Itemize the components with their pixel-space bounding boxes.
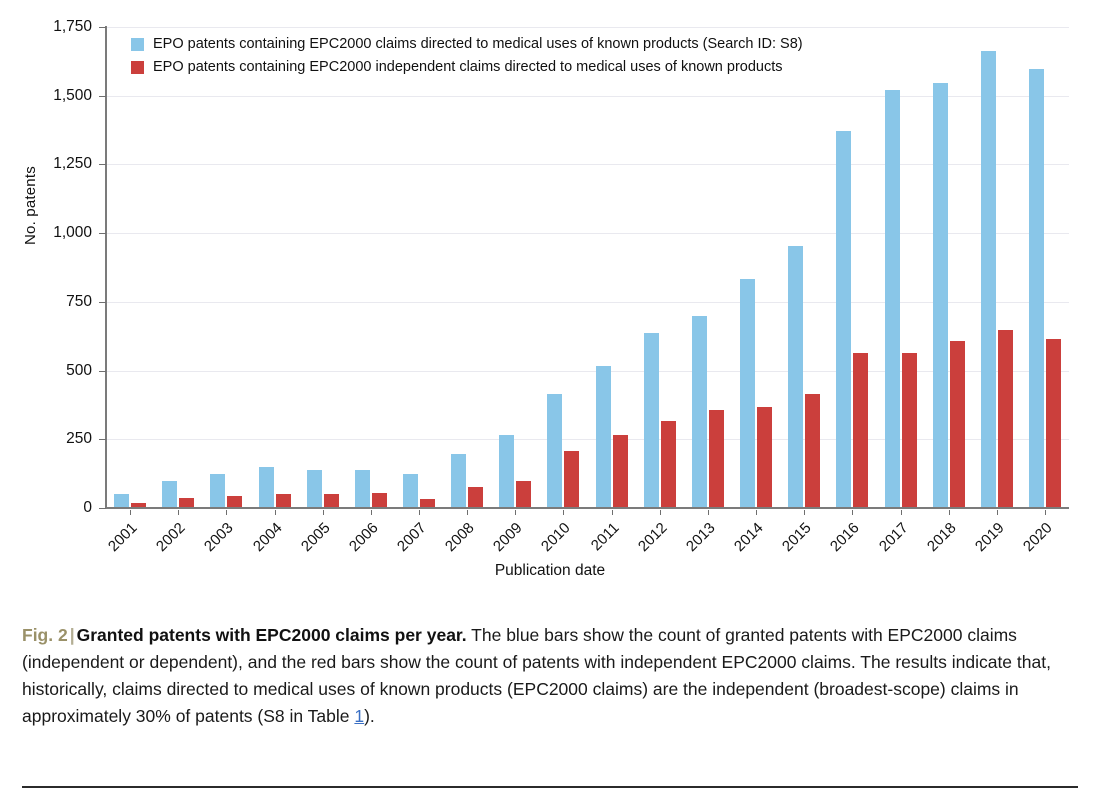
bar-blue-2006 [355, 470, 370, 508]
bar-group [347, 27, 395, 508]
figure-caption: Fig. 2|Granted patents with EPC2000 clai… [22, 622, 1062, 731]
x-tick-mark [226, 510, 227, 515]
y-tick-mark [99, 508, 106, 509]
bar-red-2019 [998, 330, 1013, 508]
bar-red-2004 [276, 494, 291, 508]
bar-blue-2009 [499, 435, 514, 508]
bar-red-2013 [709, 410, 724, 508]
x-tick-label: 2011 [587, 518, 623, 554]
bar-red-2012 [661, 421, 676, 508]
x-tick-label: 2018 [924, 518, 961, 555]
y-tick-mark [99, 96, 106, 97]
x-tick-label: 2008 [442, 518, 479, 555]
x-tick-mark [1045, 510, 1046, 515]
x-tick-mark [515, 510, 516, 515]
x-tick-label: 2016 [827, 518, 864, 555]
x-tick-label: 2015 [779, 518, 816, 555]
bar-group [106, 27, 154, 508]
y-tick-label: 500 [0, 362, 92, 380]
x-tick-label: 2010 [538, 518, 575, 555]
y-tick-label: 750 [0, 293, 92, 311]
x-tick-mark [901, 510, 902, 515]
bar-red-2014 [757, 407, 772, 508]
plot-area [106, 27, 1069, 508]
x-tick-mark [419, 510, 420, 515]
bar-blue-2008 [451, 454, 466, 508]
bar-group [828, 27, 876, 508]
y-tick-label: 250 [0, 430, 92, 448]
y-tick-label: 1,750 [0, 18, 92, 36]
bar-red-2017 [902, 353, 917, 508]
bar-group [636, 27, 684, 508]
x-tick-label: 2007 [394, 518, 431, 555]
bar-blue-2016 [836, 131, 851, 508]
bar-blue-2020 [1029, 69, 1044, 508]
bar-blue-2013 [692, 316, 707, 508]
x-tick-label: 2020 [1020, 518, 1057, 555]
bar-group [973, 27, 1021, 508]
x-tick-mark [130, 510, 131, 515]
figure-number: Fig. 2 [22, 625, 68, 645]
x-tick-mark [804, 510, 805, 515]
x-tick-mark [949, 510, 950, 515]
bar-red-2011 [613, 435, 628, 508]
bar-blue-2001 [114, 494, 129, 508]
x-tick-label: 2013 [683, 518, 720, 555]
figure-page: No. patents 02505007501,0001,2501,5001,7… [0, 0, 1100, 796]
x-axis-title: Publication date [0, 562, 1100, 580]
bar-red-2020 [1046, 339, 1061, 508]
bar-series-container [106, 27, 1069, 508]
legend-label-blue: EPO patents containing EPC2000 claims di… [153, 36, 803, 52]
y-tick-label: 1,000 [0, 224, 92, 242]
caption-bold-title: Granted patents with EPC2000 claims per … [77, 625, 467, 645]
x-tick-label: 2017 [876, 518, 913, 555]
bar-group [154, 27, 202, 508]
x-tick-mark [612, 510, 613, 515]
x-tick-mark [178, 510, 179, 515]
bar-group [299, 27, 347, 508]
table-1-link[interactable]: 1 [354, 706, 364, 726]
bar-blue-2014 [740, 279, 755, 508]
x-tick-label: 2003 [201, 518, 238, 555]
y-tick-mark [99, 302, 106, 303]
legend-label-red: EPO patents containing EPC2000 independe… [153, 59, 783, 75]
bar-blue-2007 [403, 474, 418, 508]
bar-red-2009 [516, 481, 531, 508]
y-tick-label: 1,250 [0, 155, 92, 173]
bar-group [395, 27, 443, 508]
x-tick-mark [997, 510, 998, 515]
bar-blue-2011 [596, 366, 611, 508]
x-axis-line [105, 507, 1069, 509]
legend-swatch-blue-icon [131, 38, 144, 51]
bar-group [1021, 27, 1069, 508]
page-bottom-rule [22, 786, 1078, 788]
bar-group [588, 27, 636, 508]
x-tick-mark [852, 510, 853, 515]
x-tick-mark [756, 510, 757, 515]
x-tick-mark [563, 510, 564, 515]
y-tick-mark [99, 27, 106, 28]
bar-chart-figure: No. patents 02505007501,0001,2501,5001,7… [0, 0, 1100, 600]
y-tick-mark [99, 233, 106, 234]
bar-blue-2018 [933, 83, 948, 508]
bar-red-2010 [564, 451, 579, 508]
x-tick-mark [467, 510, 468, 515]
x-tick-mark [708, 510, 709, 515]
x-tick-label: 2002 [153, 518, 190, 555]
bar-red-2006 [372, 493, 387, 508]
bar-blue-2010 [547, 394, 562, 508]
y-tick-label: 0 [0, 499, 92, 517]
bar-group [539, 27, 587, 508]
bar-blue-2003 [210, 474, 225, 508]
bar-blue-2019 [981, 51, 996, 508]
bar-group [250, 27, 298, 508]
x-tick-label: 2012 [635, 518, 672, 555]
y-tick-label: 1,500 [0, 87, 92, 105]
x-tick-label: 2019 [972, 518, 1009, 555]
caption-body-2: ). [364, 706, 375, 726]
bar-group [202, 27, 250, 508]
legend-item-blue: EPO patents containing EPC2000 claims di… [131, 36, 803, 52]
bar-blue-2012 [644, 333, 659, 508]
bar-red-2018 [950, 341, 965, 508]
bar-group [925, 27, 973, 508]
x-tick-label: 2005 [298, 518, 335, 555]
legend-item-red: EPO patents containing EPC2000 independe… [131, 59, 803, 75]
x-tick-mark [371, 510, 372, 515]
bar-blue-2015 [788, 246, 803, 508]
bar-group [877, 27, 925, 508]
caption-separator: | [68, 625, 77, 645]
x-tick-mark [275, 510, 276, 515]
legend-swatch-red-icon [131, 61, 144, 74]
x-tick-label: 2004 [250, 518, 287, 555]
bar-blue-2005 [307, 470, 322, 508]
bar-blue-2002 [162, 481, 177, 508]
bar-group [780, 27, 828, 508]
bar-red-2005 [324, 494, 339, 508]
chart-legend: EPO patents containing EPC2000 claims di… [131, 36, 803, 82]
bar-red-2015 [805, 394, 820, 508]
bar-blue-2017 [885, 90, 900, 508]
y-tick-mark [99, 371, 106, 372]
bar-blue-2004 [259, 467, 274, 508]
bar-red-2008 [468, 487, 483, 508]
x-tick-label: 2006 [346, 518, 383, 555]
y-axis-line [105, 26, 107, 509]
bar-red-2016 [853, 353, 868, 508]
y-tick-mark [99, 164, 106, 165]
bar-group [732, 27, 780, 508]
bar-group [684, 27, 732, 508]
x-tick-label: 2014 [731, 518, 768, 555]
x-tick-mark [660, 510, 661, 515]
bar-group [443, 27, 491, 508]
x-tick-mark [323, 510, 324, 515]
x-tick-label: 2001 [105, 518, 142, 555]
x-tick-label: 2009 [490, 518, 527, 555]
y-tick-mark [99, 439, 106, 440]
bar-group [491, 27, 539, 508]
